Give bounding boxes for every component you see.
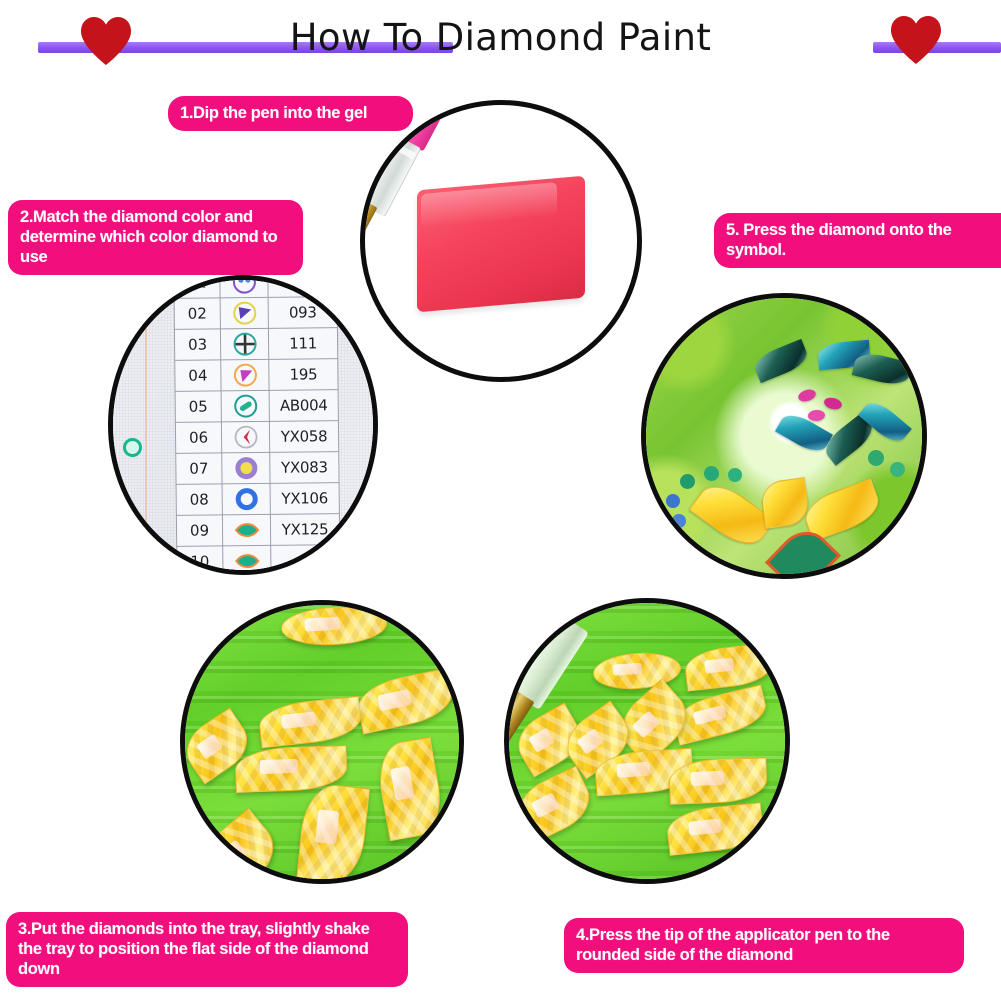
chart-symbol-cell bbox=[221, 359, 269, 391]
pen-picks-diamond-image bbox=[509, 603, 785, 879]
step-1-photo-circle bbox=[360, 100, 642, 382]
chart-code-cell: 020 bbox=[268, 275, 337, 297]
diamond bbox=[280, 604, 388, 647]
chart-symbol-cell bbox=[221, 421, 269, 453]
chart-code-cell: 111 bbox=[268, 328, 337, 360]
chart-symbol-cell bbox=[222, 483, 270, 515]
chart-code-cell: 093 bbox=[268, 297, 337, 329]
plus-icon bbox=[231, 331, 257, 357]
ring-icon bbox=[233, 486, 259, 512]
triangle-right-icon bbox=[231, 300, 257, 326]
chart-symbol-cell bbox=[220, 297, 268, 329]
chart-no-cell: 01 bbox=[174, 275, 220, 298]
infographic-canvas: How To Diamond Paint 1.Dip the pen into … bbox=[0, 0, 1001, 1001]
rhinestone-dot bbox=[666, 494, 680, 508]
pen-metal-tip bbox=[641, 364, 642, 421]
chart-symbol-cell bbox=[220, 275, 268, 298]
step-3-label: 3.Put the diamonds into the tray, slight… bbox=[6, 912, 408, 987]
chart-code-cell: YX106 bbox=[270, 483, 339, 515]
chart-no-cell: 06 bbox=[175, 422, 221, 453]
chart-code-cell bbox=[271, 545, 340, 575]
chart-no-cell: 10 bbox=[177, 546, 223, 575]
chart-no-cell: 05 bbox=[175, 391, 221, 422]
arrow-left-icon bbox=[232, 424, 258, 450]
rhinestone-dot bbox=[680, 474, 695, 489]
mandala-placement-image bbox=[646, 298, 922, 574]
leaf-icon bbox=[234, 548, 260, 574]
color-symbol-chart: 01 020 02 bbox=[173, 275, 336, 575]
rhinestone-dot bbox=[868, 450, 884, 466]
chart-symbol-cell bbox=[220, 328, 268, 360]
table-row: 04 195 bbox=[175, 359, 338, 392]
table-row: 09 YX125 bbox=[176, 514, 339, 547]
chart-symbol-cell bbox=[222, 452, 270, 484]
diamond bbox=[296, 782, 370, 884]
chart-no-cell: 07 bbox=[176, 453, 222, 484]
chart-no-cell: 08 bbox=[176, 484, 222, 515]
step-4-label: 4.Press the tip of the applicator pen to… bbox=[564, 918, 964, 973]
leaf-icon bbox=[233, 517, 259, 543]
step-3-photo-circle bbox=[180, 600, 464, 884]
chart-symbol-cell bbox=[223, 545, 271, 575]
rhinestone-dot bbox=[890, 462, 905, 477]
header-band: How To Diamond Paint bbox=[0, 0, 1001, 80]
red-gel-pad bbox=[417, 176, 585, 313]
table-row: 03 111 bbox=[174, 328, 337, 361]
chart-no-cell: 03 bbox=[174, 329, 220, 360]
triangle-down-icon bbox=[232, 362, 258, 388]
canvas-guide-line-left bbox=[145, 275, 147, 575]
table-row: 06 YX058 bbox=[175, 421, 338, 454]
chart-no-cell: 02 bbox=[174, 298, 220, 329]
rhinestone-dot bbox=[672, 514, 686, 528]
step-5-photo-circle bbox=[641, 293, 927, 579]
chart-code-cell: 195 bbox=[269, 359, 338, 391]
chart-symbol-cell bbox=[222, 514, 270, 546]
color-chart-table: 01 020 02 bbox=[173, 275, 340, 575]
step-2-photo-circle: 01 020 02 bbox=[108, 275, 378, 575]
chart-symbol-cell bbox=[221, 390, 269, 422]
chart-no-cell: 04 bbox=[175, 360, 221, 391]
diamonds-in-tray-image bbox=[185, 605, 459, 879]
canvas-printed-symbol bbox=[123, 438, 142, 457]
table-row: 08 YX106 bbox=[176, 483, 339, 516]
diamond bbox=[668, 757, 767, 804]
rhinestone-dot bbox=[728, 468, 742, 482]
pen-dipped-in-gel-image bbox=[365, 105, 637, 377]
step-4-photo-circle bbox=[504, 598, 790, 884]
table-row: 01 020 bbox=[174, 275, 337, 298]
chart-no-cell: 09 bbox=[176, 515, 222, 546]
table-row: 02 093 bbox=[174, 297, 337, 330]
rhinestone-dot bbox=[704, 466, 719, 481]
table-row: 07 YX083 bbox=[176, 452, 339, 485]
page-title: How To Diamond Paint bbox=[0, 16, 1001, 59]
chart-code-cell: YX058 bbox=[269, 421, 338, 453]
table-row: 05 AB004 bbox=[175, 390, 338, 423]
double-dot-icon bbox=[231, 275, 257, 295]
chart-code-cell: AB004 bbox=[269, 390, 338, 422]
table-row: 10 bbox=[177, 545, 340, 575]
donut-filled-icon bbox=[233, 455, 259, 481]
chart-code-cell: YX125 bbox=[270, 514, 339, 546]
color-chart-body: 01 020 02 bbox=[174, 275, 340, 575]
step-5-label: 5. Press the diamond onto the symbol. bbox=[714, 213, 1001, 268]
color-chart-image: 01 020 02 bbox=[113, 280, 373, 570]
pill-icon bbox=[232, 393, 258, 419]
chart-code-cell: YX083 bbox=[270, 452, 339, 484]
step-2-label: 2.Match the diamond color and determine … bbox=[8, 200, 303, 275]
